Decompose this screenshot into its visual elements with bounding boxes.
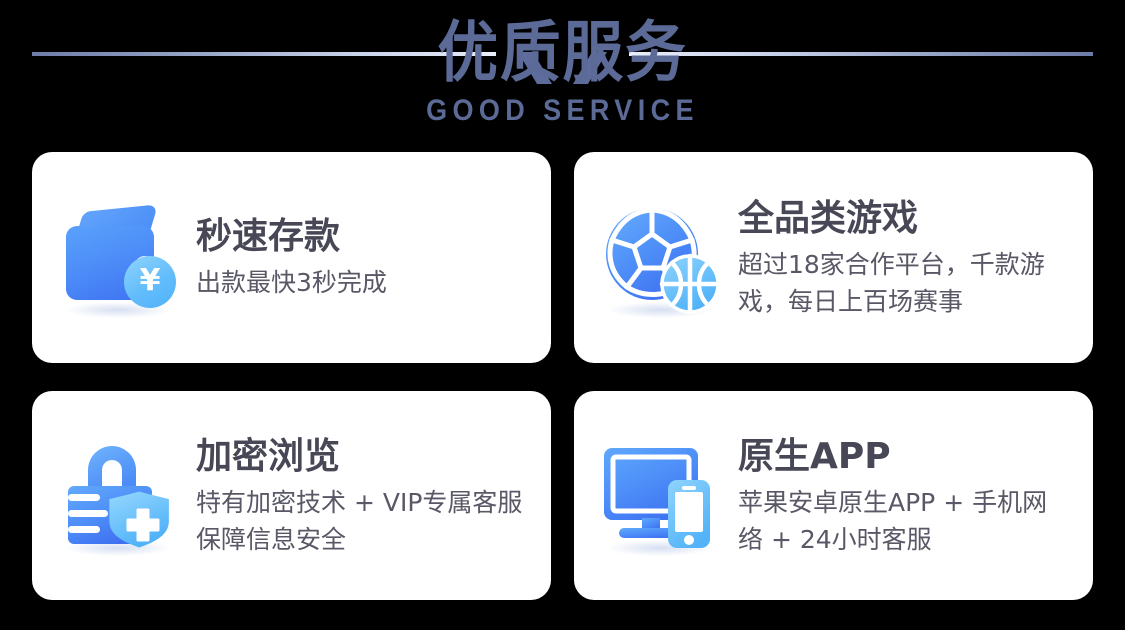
service-card-encryption[interactable]: 加密浏览 特有加密技术 + VIP专属客服保障信息安全 (32, 391, 551, 600)
lock-shield-icon (58, 434, 182, 558)
page-subtitle: GOOD SERVICE (56, 94, 1069, 128)
service-card-title: 原生APP (738, 434, 1071, 480)
lock-graphic (62, 438, 178, 550)
service-card-desc: 超过18家合作平台，千款游戏，每日上百场赛事 (738, 246, 1071, 320)
service-card-desc: 苹果安卓原生APP + 手机网络 + 24小时客服 (738, 484, 1071, 558)
service-card-text: 全品类游戏 超过18家合作平台，千款游戏，每日上百场赛事 (738, 196, 1071, 320)
page-title-block: 优质服务 GOOD SERVICE (0, 0, 1125, 128)
service-card-desc: 出款最快3秒完成 (196, 264, 529, 301)
ball-graphic (602, 202, 720, 314)
yen-symbol: ¥ (140, 266, 161, 296)
service-card-deposit[interactable]: ¥ 秒速存款 出款最快3秒完成 (32, 152, 551, 363)
service-card-text: 加密浏览 特有加密技术 + VIP专属客服保障信息安全 (196, 434, 529, 558)
service-card-desc: 特有加密技术 + VIP专属客服保障信息安全 (196, 484, 529, 558)
wallet-yen-icon: ¥ (58, 196, 182, 320)
service-card-grid: ¥ 秒速存款 出款最快3秒完成 (32, 152, 1093, 600)
monitor-phone-icon (600, 434, 724, 558)
soccer-basketball-icon (600, 196, 724, 320)
service-card-text: 秒速存款 出款最快3秒完成 (196, 214, 529, 301)
service-card-native-app[interactable]: 原生APP 苹果安卓原生APP + 手机网络 + 24小时客服 (574, 391, 1093, 600)
page-title: 优质服务 (45, 0, 1080, 94)
device-graphic (602, 442, 720, 550)
page-header: 优质服务 GOOD SERVICE (0, 0, 1125, 150)
service-card-text: 原生APP 苹果安卓原生APP + 手机网络 + 24小时客服 (738, 434, 1071, 558)
yen-coin-icon: ¥ (124, 256, 176, 308)
service-card-title: 秒速存款 (196, 214, 529, 260)
service-card-title: 全品类游戏 (738, 196, 1071, 242)
service-card-title: 加密浏览 (196, 434, 529, 480)
service-card-games[interactable]: 全品类游戏 超过18家合作平台，千款游戏，每日上百场赛事 (574, 152, 1093, 363)
